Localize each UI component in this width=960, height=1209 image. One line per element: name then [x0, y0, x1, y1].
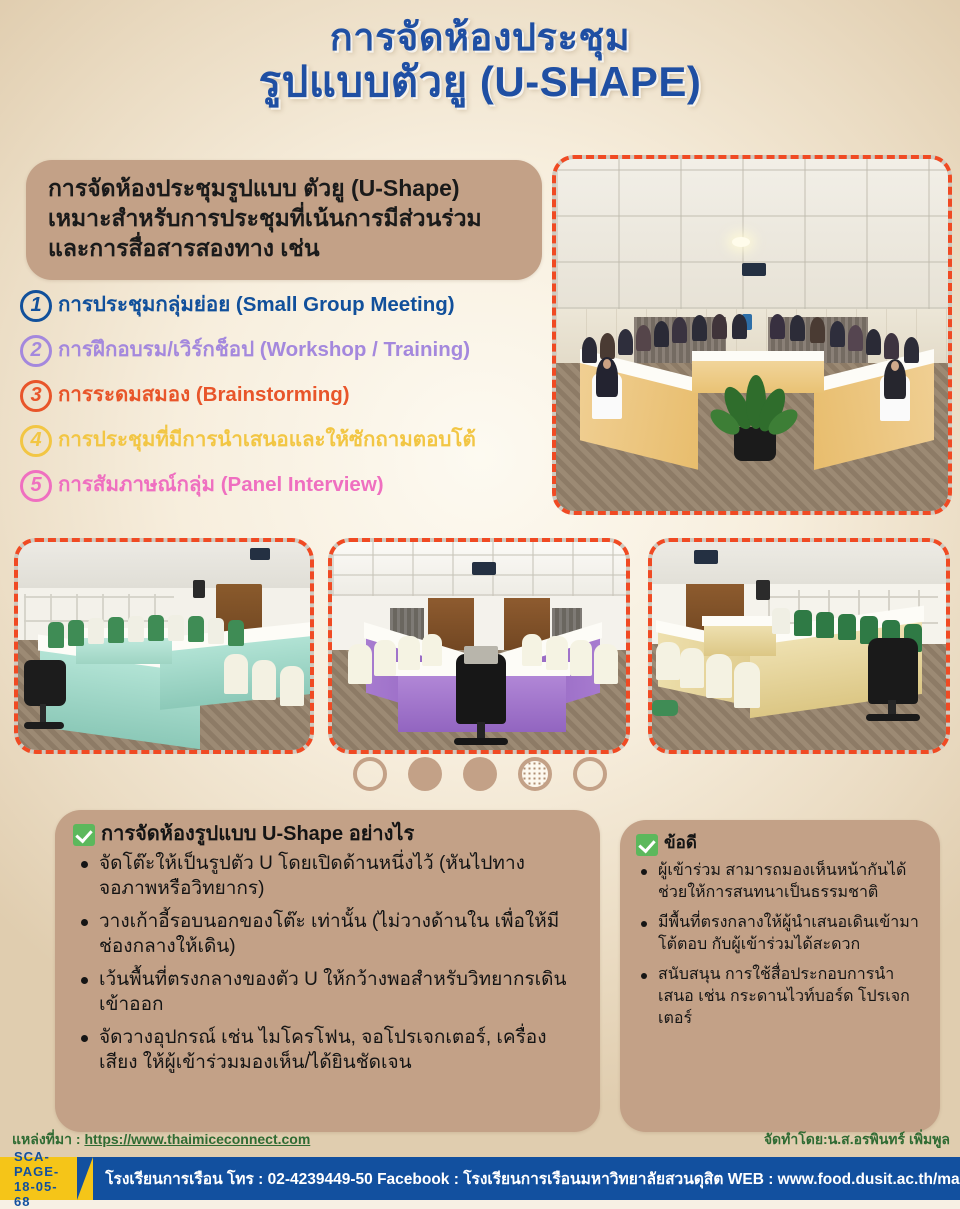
how-to-box: การจัดห้องรูปแบบ U-Shape อย่างไร จัดโต๊ะ…	[55, 810, 600, 1132]
intro-line-1: การจัดห้องประชุมรูปแบบ ตัวยู (U-Shape)	[48, 174, 524, 204]
advantages-box: ข้อดี ผู้เข้าร่วม สามารถมองเห็นหน้ากันได…	[620, 820, 940, 1132]
source-label: แหล่งที่มา :	[12, 1131, 84, 1147]
divider-dot-3	[463, 757, 497, 791]
divider-dot-4	[518, 757, 552, 791]
use-case-label-1: การประชุมกลุ่มย่อย (Small Group Meeting)	[58, 294, 455, 317]
intro-description-card: การจัดห้องประชุมรูปแบบ ตัวยู (U-Shape) เ…	[26, 160, 542, 280]
advantages-heading-row: ข้อดี	[636, 832, 922, 856]
ceiling-projector-icon	[472, 562, 496, 575]
main-conference-room-photo	[552, 155, 952, 515]
advantage-bullet-2: มีพื้นที่ตรงกลางให้ผู้นำเสนอเดินเข้ามาโต…	[636, 912, 922, 956]
use-case-item-5: 5 การสัมภาษณ์กลุ่ม (Panel Interview)	[20, 463, 565, 508]
ceiling-projector-icon	[250, 548, 270, 560]
footer-page-code: SCA-PAGE-18-05-68	[0, 1157, 77, 1200]
use-case-list: 1 การประชุมกลุ่มย่อย (Small Group Meetin…	[20, 283, 565, 508]
page-title: การจัดห้องประชุม รูปแบบตัวยู (U-SHAPE)	[0, 18, 960, 105]
how-to-bullet-2: วางเก้าอี้รอบนอกของโต๊ะ เท่านั้น (ไม่วาง…	[73, 909, 580, 960]
check-icon	[636, 834, 658, 856]
how-to-heading-row: การจัดห้องรูปแบบ U-Shape อย่างไร	[73, 822, 580, 847]
dot-divider	[0, 757, 960, 791]
advantages-bullets: ผู้เข้าร่วม สามารถมองเห็นหน้ากันได้ ช่วย…	[636, 860, 922, 1031]
advantage-bullet-3: สนับสนุน การใช้สื่อประกอบการนำเสนอ เช่น …	[636, 964, 922, 1030]
poster-canvas: การจัดห้องประชุม รูปแบบตัวยู (U-SHAPE) ก…	[0, 0, 960, 1200]
how-to-bullets: จัดโต๊ะให้เป็นรูปตัว U โดยเปิดด้านหนึ่งไ…	[73, 851, 580, 1076]
gold-room-photo	[648, 538, 950, 754]
source-url[interactable]: https://www.thaimiceconnect.com	[84, 1131, 310, 1147]
how-to-bullet-4: จัดวางอุปกรณ์ เช่น ไมโครโฟน, จอโปรเจกเตอ…	[73, 1025, 580, 1076]
how-to-bullet-1: จัดโต๊ะให้เป็นรูปตัว U โดยเปิดด้านหนึ่งไ…	[73, 851, 580, 902]
ceiling-projector-icon	[742, 263, 766, 276]
advantages-heading: ข้อดี	[664, 832, 697, 853]
use-case-label-3: การระดมสมอง (Brainstorming)	[58, 384, 350, 407]
use-case-item-4: 4 การประชุมที่มีการนำเสนอและให้ซักถามตอบ…	[20, 418, 565, 463]
purple-room-photo	[328, 538, 630, 754]
number-badge-3: 3	[20, 380, 52, 412]
divider-dot-1	[353, 757, 387, 791]
author-credit: จัดทำโดย:น.ส.อรพินทร์ เพิ่มพูล	[764, 1129, 950, 1151]
use-case-item-2: 2 การฝึกอบรม/เวิร์กช็อป (Workshop / Trai…	[20, 328, 565, 373]
number-badge-1: 1	[20, 290, 52, 322]
divider-dot-5	[573, 757, 607, 791]
intro-line-2: เหมาะสำหรับการประชุมที่เน้นการมีส่วนร่วม	[48, 204, 524, 234]
number-badge-2: 2	[20, 335, 52, 367]
number-badge-4: 4	[20, 425, 52, 457]
intro-line-3: และการสื่อสารสองทาง เช่น	[48, 234, 524, 264]
green-room-photo	[14, 538, 314, 754]
how-to-heading: การจัดห้องรูปแบบ U-Shape อย่างไร	[101, 822, 414, 847]
title-line-2: รูปแบบตัวยู (U-SHAPE)	[0, 60, 960, 105]
ceiling-projector-icon	[694, 550, 718, 564]
footer-bar: SCA-PAGE-18-05-68 โรงเรียนการเรือน โทร :…	[0, 1157, 960, 1200]
use-case-label-2: การฝึกอบรม/เวิร์กช็อป (Workshop / Traini…	[58, 339, 470, 362]
credit-row: แหล่งที่มา : https://www.thaimiceconnect…	[0, 1127, 960, 1153]
title-line-1: การจัดห้องประชุม	[0, 18, 960, 58]
divider-dot-2	[408, 757, 442, 791]
use-case-label-5: การสัมภาษณ์กลุ่ม (Panel Interview)	[58, 474, 384, 497]
number-badge-5: 5	[20, 470, 52, 502]
footer-contact-text: โรงเรียนการเรือน โทร : 02-4239449-50 Fac…	[77, 1166, 960, 1191]
advantage-bullet-1: ผู้เข้าร่วม สามารถมองเห็นหน้ากันได้ ช่วย…	[636, 860, 922, 904]
use-case-item-1: 1 การประชุมกลุ่มย่อย (Small Group Meetin…	[20, 283, 565, 328]
use-case-label-4: การประชุมที่มีการนำเสนอและให้ซักถามตอบโต…	[58, 429, 476, 452]
use-case-item-3: 3 การระดมสมอง (Brainstorming)	[20, 373, 565, 418]
check-icon	[73, 824, 95, 846]
how-to-bullet-3: เว้นพื้นที่ตรงกลางของตัว U ให้กว้างพอสำห…	[73, 967, 580, 1018]
